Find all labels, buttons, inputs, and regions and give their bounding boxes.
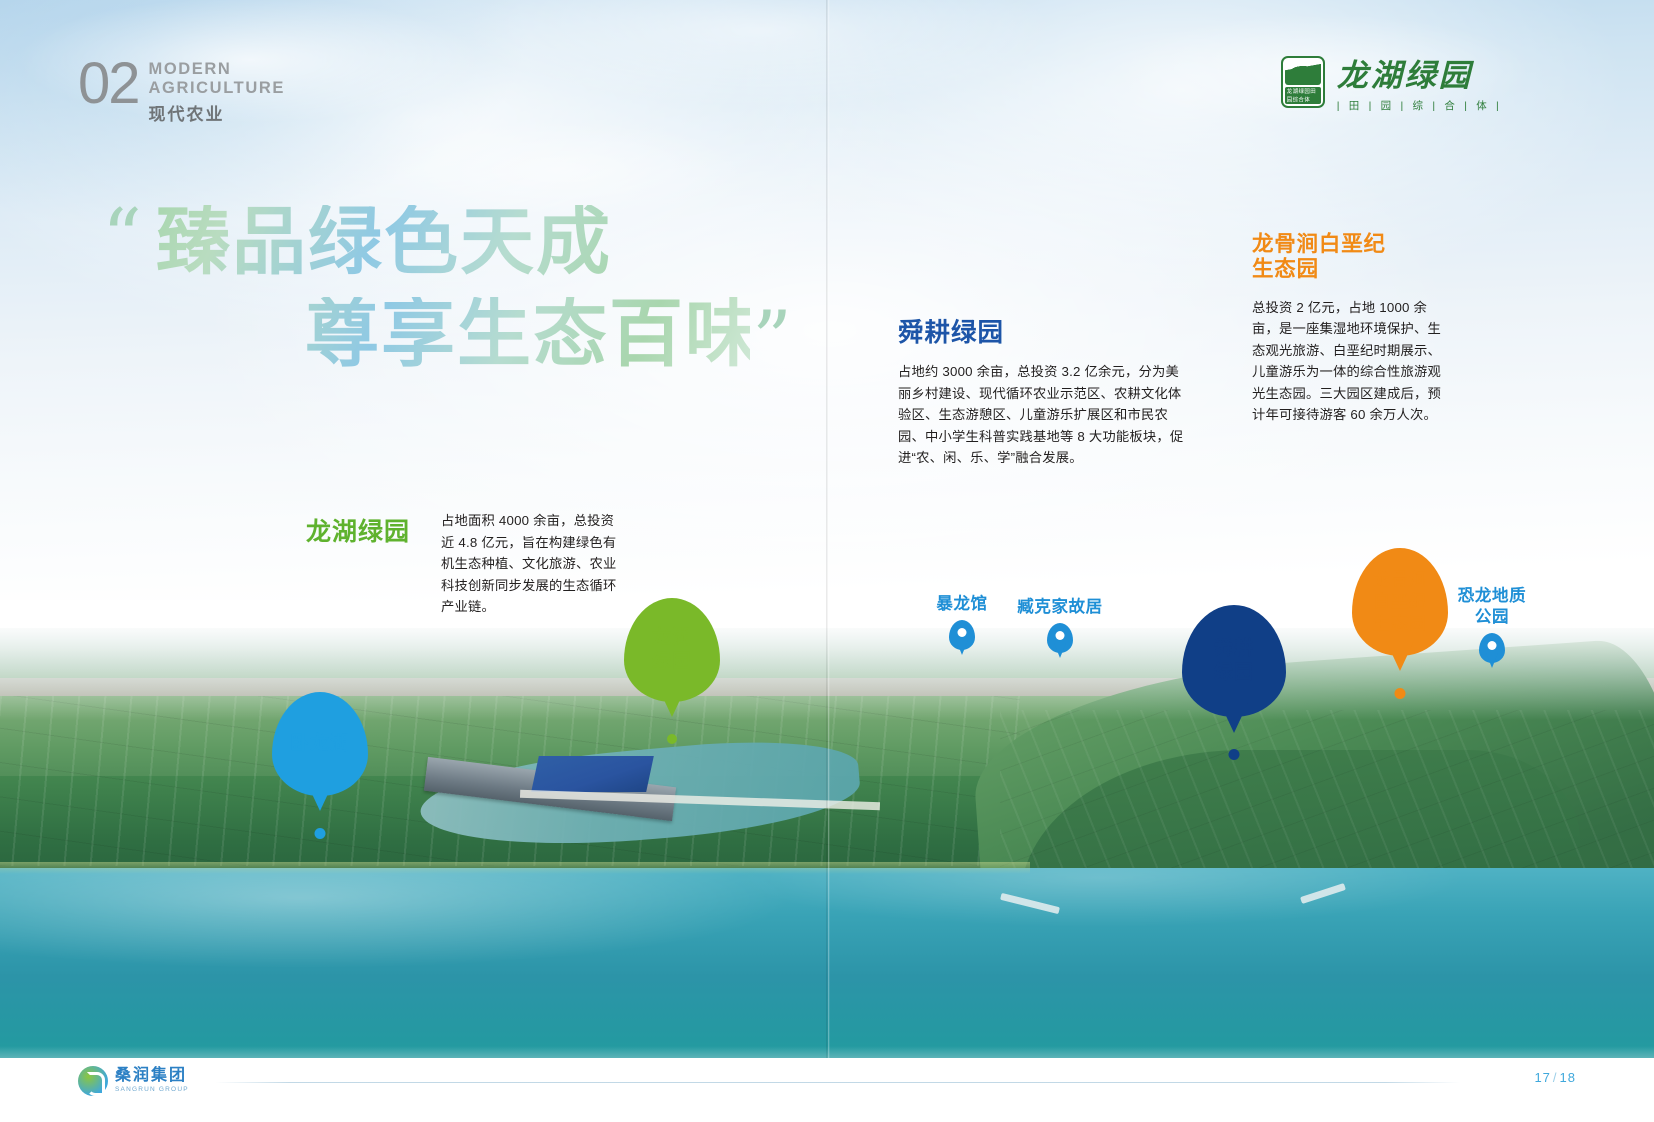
location-pin-icon <box>949 620 975 650</box>
chapter-marker: 02 MODERN AGRICULTURE 现代农业 <box>78 55 285 125</box>
seal-text-band: 龙湖绿园田园综合体 <box>1285 87 1321 104</box>
seal-text: 龙湖绿园田园综合体 <box>1287 87 1319 103</box>
location-pin-icon <box>1047 623 1073 653</box>
chapter-number: 02 <box>78 55 139 113</box>
block-title-longgu-line1: 龙骨涧白垩纪 <box>1252 232 1450 257</box>
map-pin-label-line2: 白垩纪 <box>1373 592 1427 611</box>
map-pin-anchor-dot <box>667 734 677 744</box>
brochure-spread: 02 MODERN AGRICULTURE 现代农业 龙湖绿园田园综合体 龙湖绿… <box>0 0 1654 1122</box>
page-footer: 桑润集团 SANGRUN GROUP 17/18 <box>0 1058 1654 1122</box>
map-pin-longhu-lvyuan[interactable]: 龙湖 绿园 <box>624 598 720 702</box>
chapter-en-line1: MODERN <box>149 60 285 79</box>
map-pin-label-line1: 龙骨涧 <box>1373 570 1427 589</box>
headline-slogan: “ 臻品绿色天成 尊享生态百味 ” <box>110 205 750 371</box>
location-pin-icon <box>1479 633 1505 663</box>
company-logo: 桑润集团 SANGRUN GROUP <box>78 1066 189 1096</box>
company-logo-mark-icon <box>78 1066 108 1096</box>
water-highlight <box>0 868 1654 988</box>
chapter-cn-title: 现代农业 <box>149 100 285 125</box>
map-pin-label-line3: 生态园 <box>1373 614 1427 633</box>
brand-subtitle: | 田 | 园 | 综 | 合 | 体 | <box>1337 98 1502 113</box>
map-pin-label: 暴龙馆 <box>920 590 1004 614</box>
map-pin-konglong-park[interactable]: 恐龙地质 公园 <box>1452 586 1532 663</box>
brand-name: 龙湖绿园 <box>1337 50 1502 95</box>
seal-emblem-icon: 龙湖绿园田园综合体 <box>1281 56 1325 108</box>
map-pin-baolongguan[interactable]: 暴龙馆 <box>920 590 1004 650</box>
text-block-shungeng: 舜耕绿园 占地约 3000 余亩，总投资 3.2 亿余元，分为美丽乡村建设、现代… <box>898 318 1190 469</box>
footer-divider <box>215 1082 1460 1083</box>
map-pin-label-line2: 公园 <box>1475 608 1509 626</box>
quote-open-icon: “ <box>102 199 142 277</box>
company-name-cn: 桑润集团 <box>115 1068 189 1085</box>
map-pin-wolonghu[interactable]: 卧龙湖 <box>272 692 368 796</box>
block-title-longgu-line2: 生态园 <box>1252 257 1450 282</box>
page-number-right: 18 <box>1560 1070 1576 1085</box>
shoreline <box>0 862 1030 874</box>
map-pin-shungeng-lvyuan[interactable]: 舜耕 绿园 <box>1182 605 1286 717</box>
block-body-shungeng: 占地约 3000 余亩，总投资 3.2 亿余元，分为美丽乡村建设、现代循环农业示… <box>898 361 1190 469</box>
map-pin-label: 卧龙湖 <box>290 732 350 756</box>
quote-close-icon: ” <box>752 301 792 379</box>
text-block-longgu: 龙骨涧白垩纪 生态园 总投资 2 亿元，占地 1000 余亩，是一座集湿地环境保… <box>1252 232 1450 426</box>
map-pin-anchor-dot <box>315 828 326 839</box>
page-number-left: 17 <box>1534 1070 1550 1085</box>
headline-line-1: 臻品绿色天成 <box>110 205 750 279</box>
map-pin-zangkejia[interactable]: 臧克家故居 <box>1000 593 1120 653</box>
map-pin-label-line1: 恐龙地质 <box>1458 587 1526 605</box>
bottom-fade <box>0 1022 1654 1060</box>
block-body-longgu: 总投资 2 亿元，占地 1000 余亩，是一座集湿地环境保护、生态观光旅游、白垩… <box>1252 297 1450 426</box>
map-pin-label: 臧克家故居 <box>1000 593 1120 617</box>
map-pin-anchor-dot <box>1395 688 1406 699</box>
block-title-longhu: 龙湖绿园 <box>306 518 410 548</box>
block-body-longhu: 占地面积 4000 余亩，总投资近 4.8 亿元，旨在构建绿色有机生态种植、文化… <box>441 510 623 618</box>
map-pin-label-line1: 龙湖 <box>652 627 692 648</box>
headline-line-2: 尊享生态百味 <box>110 297 750 371</box>
page-number: 17/18 <box>1534 1070 1576 1085</box>
map-pin-longgujian[interactable]: 龙骨涧 白垩纪 生态园 <box>1352 548 1448 656</box>
brand-logo: 龙湖绿园田园综合体 龙湖绿园 | 田 | 园 | 综 | 合 | 体 | <box>1281 50 1502 113</box>
text-block-longhu: 龙湖绿园 占地面积 4000 余亩，总投资近 4.8 亿元，旨在构建绿色有机生态… <box>306 510 626 618</box>
seal-landscape-mark <box>1285 61 1321 85</box>
map-pin-label-line2: 绿园 <box>652 651 692 672</box>
map-pin-anchor-dot <box>1229 749 1240 760</box>
page-number-separator: / <box>1553 1070 1558 1085</box>
chapter-en-line2: AGRICULTURE <box>149 79 285 98</box>
company-name-en: SANGRUN GROUP <box>115 1087 189 1094</box>
block-title-shungeng: 舜耕绿园 <box>898 318 1190 348</box>
map-pin-label-line1: 舜耕 <box>1214 638 1254 659</box>
blue-roof-building <box>531 756 654 792</box>
map-pin-label-line2: 绿园 <box>1214 662 1254 683</box>
